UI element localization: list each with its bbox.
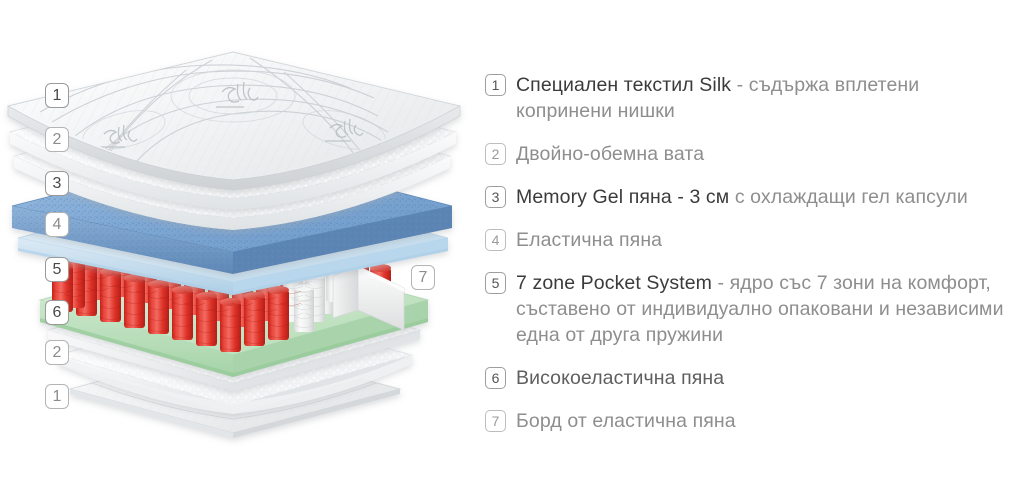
legend-list: 1 Специален текстил Silk - съдържа вплет… <box>485 72 1010 451</box>
legend-text-7: Борд от еластична пяна <box>516 408 736 434</box>
legend-text-6: Високоеластична пяна <box>516 365 724 391</box>
legend-chip-5: 5 <box>485 272 506 294</box>
callout-chip-2-top[interactable]: 2 <box>45 127 69 152</box>
legend-rest-2: Двойно-обемна вата <box>516 143 704 165</box>
legend-item-2[interactable]: 2 Двойно-обемна вата <box>485 141 1010 167</box>
callout-chip-1-top[interactable]: 1 <box>45 83 69 108</box>
legend-item-5[interactable]: 5 7 zone Pocket System - ядро със 7 зони… <box>485 270 1010 348</box>
legend-chip-4: 4 <box>485 229 506 251</box>
callout-chip-1-bottom[interactable]: 1 <box>45 384 69 409</box>
legend-strong-1: Специален текстил Silk <box>516 74 731 96</box>
callout-chip-7[interactable]: 7 <box>411 265 435 290</box>
mattress-layer-infographic: 1 2 3 4 5 6 2 1 7 1 Специален текстил Si… <box>0 0 1020 496</box>
legend-strong-3: Memory Gel пяна - 3 см <box>516 186 729 208</box>
legend-item-1[interactable]: 1 Специален текстил Silk - съдържа вплет… <box>485 72 1010 124</box>
legend-text-1: Специален текстил Silk - съдържа вплетен… <box>516 72 1010 124</box>
legend-strong-5: 7 zone Pocket System <box>516 272 712 294</box>
legend-text-2: Двойно-обемна вата <box>516 141 704 167</box>
legend-chip-2: 2 <box>485 143 506 165</box>
legend-item-4[interactable]: 4 Еластична пяна <box>485 227 1010 253</box>
legend-item-3[interactable]: 3 Memory Gel пяна - 3 см с охлаждащи гел… <box>485 184 1010 210</box>
mattress-layer-stack <box>0 0 470 496</box>
legend-text-3: Memory Gel пяна - 3 см с охлаждащи гел к… <box>516 184 968 210</box>
callout-chip-3[interactable]: 3 <box>45 171 69 196</box>
legend-item-7[interactable]: 7 Борд от еластична пяна <box>485 408 1010 434</box>
legend-rest-3: с охлаждащи гел капсули <box>729 186 968 208</box>
legend-rest-4: Еластична пяна <box>516 229 662 251</box>
legend-chip-7: 7 <box>485 410 506 432</box>
callout-chip-5[interactable]: 5 <box>45 257 69 282</box>
legend-text-4: Еластична пяна <box>516 227 662 253</box>
callout-chip-2-bottom[interactable]: 2 <box>45 340 69 365</box>
legend-chip-6: 6 <box>485 367 506 389</box>
callout-chip-4[interactable]: 4 <box>45 212 69 237</box>
legend-rest-7: Борд от еластична пяна <box>516 410 736 432</box>
mattress-diagram: 1 2 3 4 5 6 2 1 7 <box>0 0 470 496</box>
legend-rest-6: Високоеластична пяна <box>516 367 724 389</box>
legend-item-6[interactable]: 6 Високоеластична пяна <box>485 365 1010 391</box>
legend-chip-1: 1 <box>485 74 506 96</box>
legend-text-5: 7 zone Pocket System - ядро със 7 зони н… <box>516 270 1010 348</box>
callout-chip-6[interactable]: 6 <box>45 300 69 325</box>
legend-chip-3: 3 <box>485 186 506 208</box>
